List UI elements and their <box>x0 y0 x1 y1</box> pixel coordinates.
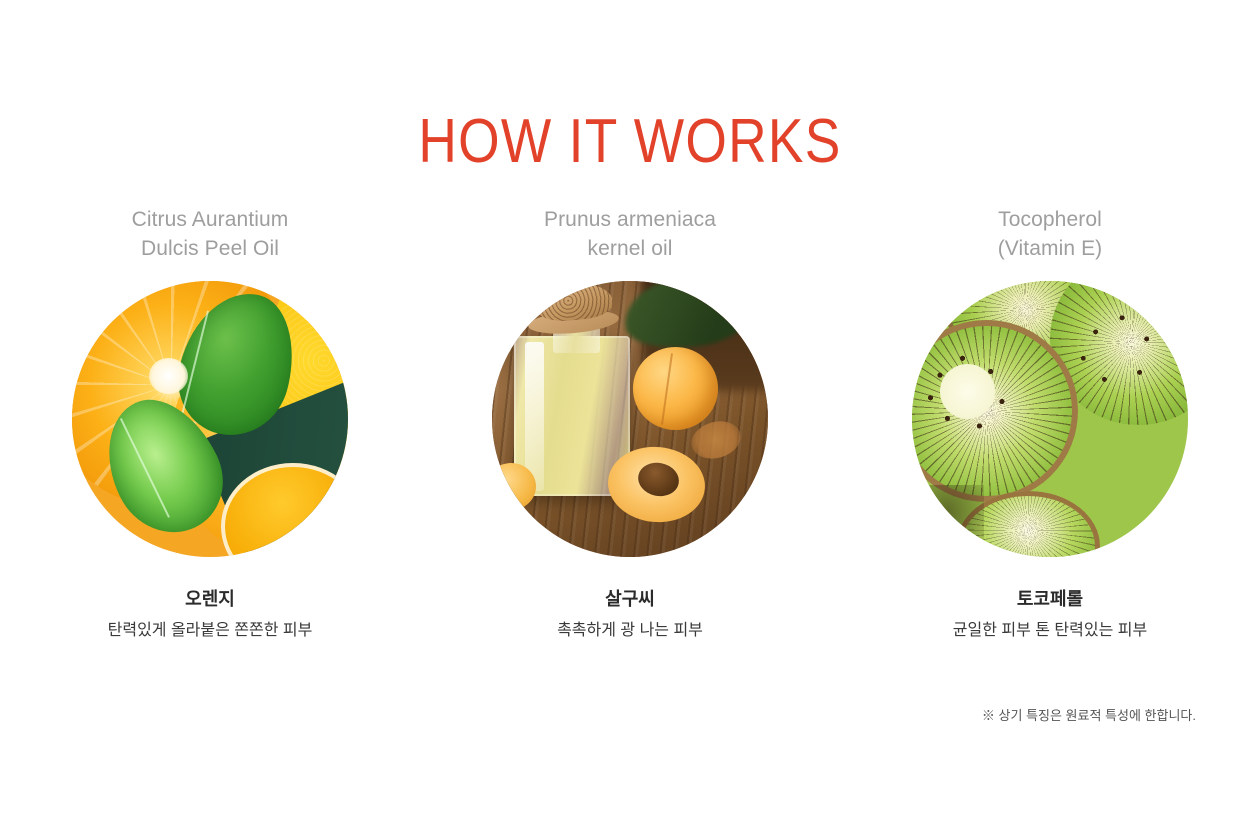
ingredient-card-tocopherol: Tocopherol (Vitamin E) 토코페롤 균일한 피부 톤 탄력있… <box>840 205 1260 675</box>
ingredient-korean-desc: 촉촉하게 광 나는 피부 <box>557 620 703 642</box>
orange-slices-with-green-leaves-photo <box>72 281 348 557</box>
ingredient-latin-name: Tocopherol (Vitamin E) <box>998 205 1103 263</box>
sliced-kiwi-fruit-photo <box>912 281 1188 557</box>
kiwi-seeds-large <box>923 347 1017 441</box>
ingredient-korean-desc: 탄력있게 올라붙은 쫀쫀한 피부 <box>108 620 313 642</box>
kiwi-photo-art <box>912 281 1188 557</box>
disclaimer-footnote: ※ 상기 특징은 원료적 특성에 한합니다. <box>982 707 1196 725</box>
ingredient-korean-desc: 균일한 피부 톤 탄력있는 피부 <box>953 620 1147 642</box>
how-it-works-page: HOW IT WORKS Citrus Aurantium Dulcis Pee… <box>0 0 1260 820</box>
apricot-kernel-oil-bottle-photo <box>492 281 768 557</box>
orange-photo-art <box>72 281 348 557</box>
photo-corner-shadow <box>912 485 984 557</box>
ingredient-korean-name: 토코페롤 <box>1017 587 1083 611</box>
ingredient-columns: Citrus Aurantium Dulcis Peel Oil 오렌지 <box>0 205 1260 675</box>
apricot-photo-art <box>492 281 768 557</box>
ingredient-latin-name: Prunus armeniaca kernel oil <box>544 205 716 263</box>
ingredient-card-orange: Citrus Aurantium Dulcis Peel Oil 오렌지 <box>0 205 420 675</box>
ingredient-latin-name: Citrus Aurantium Dulcis Peel Oil <box>132 205 289 263</box>
kiwi-seeds-top-right <box>1078 309 1166 397</box>
orange-core-pith <box>149 358 188 394</box>
page-title: HOW IT WORKS <box>88 108 1172 176</box>
ingredient-korean-name: 오렌지 <box>185 587 235 611</box>
ingredient-korean-name: 살구씨 <box>605 587 655 611</box>
ingredient-card-apricot: Prunus armeniaca kernel oil <box>420 205 840 675</box>
